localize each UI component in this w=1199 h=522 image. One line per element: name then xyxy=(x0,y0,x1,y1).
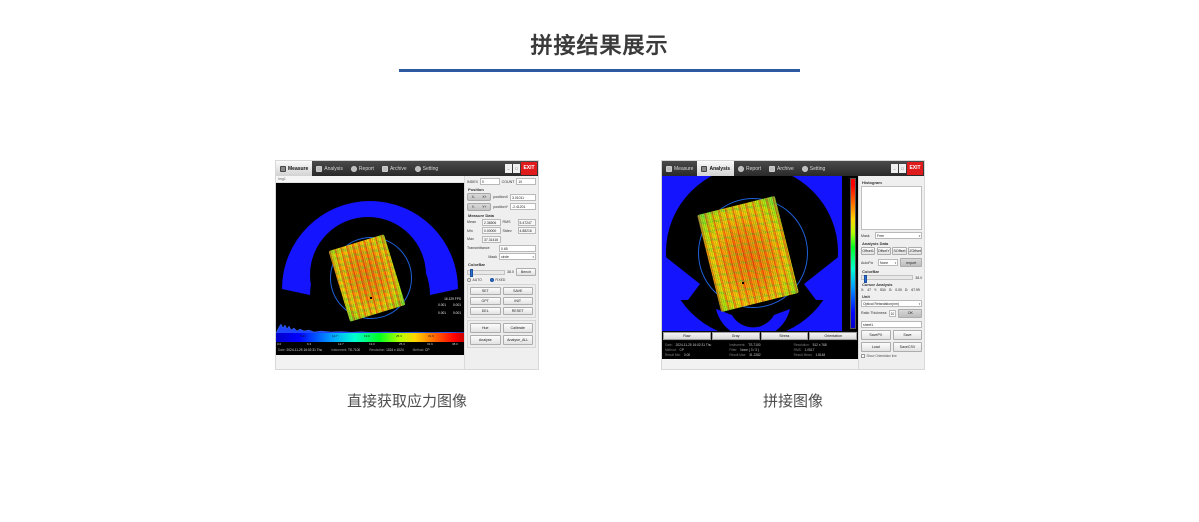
analyse-button[interactable]: Analyse xyxy=(470,335,501,345)
autofix-row: AutoFix None ▾ export xyxy=(861,258,922,267)
archive-icon xyxy=(382,166,388,172)
position-y-value[interactable]: -2.41201 xyxy=(510,203,536,210)
window-buttons: – □ EXIT xyxy=(505,162,538,175)
radio-auto-label: AUTO xyxy=(473,278,482,282)
cursor-d-value: 67.99 xyxy=(911,288,920,292)
colorbar-strip: 6.33 12.7 19.0 25.3 31.6 0.0 6.3 12.7 19… xyxy=(276,323,464,355)
unit-group-title: Unit xyxy=(862,294,922,299)
chevron-down-icon: ▾ xyxy=(919,301,921,307)
action-grid: Hue Calibrate Analyse Analyse_ALL xyxy=(470,323,533,345)
screenshot-left: Measure Analysis Report Archive Setting … xyxy=(276,161,538,369)
savepx-button[interactable]: SavePX xyxy=(861,330,891,340)
stitched-image-canvas[interactable]: 38.0 31.6 25.3 19.0 12.7 6.33 0.0 xyxy=(662,176,858,331)
close-button[interactable]: EXIT xyxy=(907,162,923,175)
load-button[interactable]: Load xyxy=(861,342,891,352)
cbar-tick: 0.0 xyxy=(277,342,281,346)
info-item: Method:CP xyxy=(665,348,726,352)
left-image-column: Img1 16.129 FPS 0.001 0. xyxy=(276,176,464,369)
max-value: 37.31416 xyxy=(482,236,501,243)
calibrate-button[interactable]: Calibrate xyxy=(503,323,534,333)
colorbar-slider-row: 38.0 Bench xyxy=(467,268,536,276)
offsety-button[interactable]: OffsetY xyxy=(877,247,891,255)
menu-label: Analysis xyxy=(324,166,343,172)
camera-icon xyxy=(280,166,286,172)
info-key: Date: xyxy=(665,343,673,347)
soffset-button[interactable]: SOffset xyxy=(892,247,906,255)
menu-label: Measure xyxy=(674,166,693,172)
colorbar-group-title: ColorBar xyxy=(862,269,922,274)
info-item: Result Mean:1.8148 xyxy=(794,353,855,357)
rms-value: 5.47247 xyxy=(518,219,537,226)
count-field[interactable]: 10 xyxy=(516,178,536,185)
cursor-d-label: D: xyxy=(905,288,908,292)
info-val: 2024-11-25 16:02:31 Thu xyxy=(676,343,712,347)
save-button[interactable]: SAVE xyxy=(503,287,534,295)
menu-label: Archive xyxy=(390,166,407,172)
overlay-val: 0.001 xyxy=(453,310,461,316)
save-button[interactable]: Save xyxy=(893,330,923,340)
info-val: TS-7100 xyxy=(748,343,760,347)
unit-select[interactable]: Optical Retardation(nm) ▾ xyxy=(861,300,922,307)
info-item: Resolution:512 x 768 xyxy=(794,343,855,347)
right-menubar: Measure Analysis Report Archive Setting … xyxy=(662,161,924,176)
colorbar-slider[interactable] xyxy=(467,270,505,275)
ok-button[interactable]: OK xyxy=(898,309,922,318)
position-x-value[interactable]: 3.01011 xyxy=(510,194,536,201)
mean-value: 2.36506 xyxy=(482,219,501,226)
stdev-label: Stdev xyxy=(503,229,516,233)
info-val: 1.0517 xyxy=(805,348,815,352)
chevron-down-icon: ▾ xyxy=(919,233,921,239)
ratio-field[interactable]: 10 xyxy=(889,310,897,317)
x-minus-button[interactable]: X- xyxy=(472,195,475,199)
right-control-panel: Histogram Mask Free ▾ Analysis Data Offs… xyxy=(858,176,924,369)
radio-auto[interactable]: AUTO xyxy=(467,278,482,282)
mean-label: Mean xyxy=(467,220,480,224)
close-button[interactable]: EXIT xyxy=(521,162,537,175)
menu-item-report[interactable]: Report xyxy=(347,161,378,176)
set-button[interactable]: SET xyxy=(470,287,501,295)
max-label: Max xyxy=(467,237,480,241)
filename-row: sheet1 xyxy=(861,321,922,328)
tab-orientation[interactable]: Orientation xyxy=(809,332,857,340)
cbar-inner-label: 6.33 xyxy=(300,334,306,338)
position-x-stepper[interactable]: X- X+ xyxy=(467,193,491,201)
mask-label: Mask xyxy=(861,234,873,238)
utility-button-grid: SET SAVE OPT INIT DEL RESET xyxy=(467,284,536,318)
mask-label: Mask xyxy=(467,255,497,259)
info-val: 1.8148 xyxy=(815,353,825,357)
count-label: COUNT xyxy=(502,180,515,184)
radio-fixed[interactable]: FIXED xyxy=(490,278,506,282)
radio-icon xyxy=(490,278,494,282)
status-key: Method: xyxy=(413,348,425,352)
menu-item-archive[interactable]: Archive xyxy=(765,161,798,176)
reset-button[interactable]: RESET xyxy=(503,307,534,315)
maximize-button[interactable]: □ xyxy=(899,164,906,173)
menu-label: Setting xyxy=(810,166,826,172)
y-minus-button[interactable]: Y- xyxy=(472,205,475,209)
page-root: 拼接结果展示 Measure Analysis Report Archive xyxy=(0,0,1199,522)
cbar-inner-label: 31.6 xyxy=(428,334,434,338)
file-button-grid: SavePX Save Load SaveCSV xyxy=(861,330,922,352)
info-key: Result Mean: xyxy=(794,353,813,357)
autofix-select[interactable]: None ▾ xyxy=(878,259,898,266)
overlay-val: 0.001 xyxy=(453,302,461,308)
camera-icon xyxy=(666,166,672,172)
colorbar-slider-knob[interactable] xyxy=(864,275,867,283)
mean-rms-row: Mean 2.36506 RMS 5.47247 xyxy=(467,219,536,226)
info-key: Result Max: xyxy=(729,353,746,357)
status-val: 1024 x 1024 xyxy=(386,348,404,352)
menu-item-archive[interactable]: Archive xyxy=(378,161,411,176)
menu-label: Analysis xyxy=(709,166,730,172)
rms-label: RMS xyxy=(503,220,516,224)
position-y-label: positionY xyxy=(493,205,508,209)
header-underline xyxy=(399,69,800,72)
info-item: Result Max:31.2282 xyxy=(729,353,790,357)
status-bar: Date: 2024-11-25 16:02:31 Thu Instrument… xyxy=(278,348,464,352)
ratio-row: Ratio Thickness 10 OK xyxy=(861,309,922,318)
left-control-panel: INDEX 0 COUNT 10 Position X- X+ position… xyxy=(464,176,538,369)
right-app-body: 38.0 31.6 25.3 19.0 12.7 6.33 0.0 Raw Gr… xyxy=(662,176,924,369)
status-key: Resolution: xyxy=(369,348,385,352)
tab-raw[interactable]: Raw xyxy=(663,332,711,340)
histogram-panel[interactable] xyxy=(861,186,922,230)
status-key: Instrument: xyxy=(331,348,347,352)
button-grid: SET SAVE OPT INIT DEL RESET xyxy=(470,287,533,315)
zoffset-button[interactable]: ZOffset xyxy=(908,247,922,255)
min-value: 0.00000 xyxy=(482,227,501,234)
cursor-x-value: 47 xyxy=(867,288,871,292)
maximize-button[interactable]: □ xyxy=(513,164,520,173)
mask-row: Mask circle ▾ xyxy=(467,253,536,260)
max-row: Max 37.31416 . xyxy=(467,236,536,243)
info-val: 0.00 xyxy=(684,353,690,357)
colorbar-slider[interactable] xyxy=(861,275,913,280)
window-buttons: – □ EXIT xyxy=(891,162,924,175)
overlay-val: 0.001 xyxy=(438,310,446,316)
cursor-g-label: G: xyxy=(889,288,893,292)
info-item: Date:2024-11-25 16:02:31 Thu xyxy=(665,343,726,347)
analysis-icon xyxy=(701,166,707,172)
colorbar-mode-radios: AUTO FIXED xyxy=(467,278,536,282)
menu-item-measure[interactable]: Measure xyxy=(662,161,697,176)
stress-image-canvas[interactable]: 16.129 FPS 0.001 0.001 0.001 0.001 xyxy=(276,183,464,323)
right-image-column: 38.0 31.6 25.3 19.0 12.7 6.33 0.0 Raw Gr… xyxy=(662,176,858,369)
menu-item-report[interactable]: Report xyxy=(734,161,765,176)
analyse-all-button[interactable]: Analyse_ALL xyxy=(503,335,534,345)
min-stdev-row: Min 0.00000 Stdev 4.88216 xyxy=(467,227,536,234)
filename-input[interactable]: sheet1 xyxy=(861,321,922,328)
colorbar-inner-labels: 6.33 12.7 19.0 25.3 31.6 xyxy=(276,334,464,342)
colorbar-group-title: ColorBar xyxy=(468,262,536,267)
cursor-x-label: X: xyxy=(861,288,864,292)
chevron-down-icon: ▾ xyxy=(532,254,534,260)
export-button[interactable]: export xyxy=(900,258,922,267)
menu-label: Report xyxy=(746,166,761,172)
info-val: None ( 3 / 3 ) xyxy=(740,348,759,352)
action-button-grid: Hue Calibrate Analyse Analyse_ALL xyxy=(467,320,536,348)
cursor-marker xyxy=(370,297,372,299)
mask-value: Free xyxy=(877,233,884,239)
unit-value: Optical Retardation(nm) xyxy=(863,301,899,307)
offset-row: Offset1 OffsetY SOffset ZOffset xyxy=(861,247,922,255)
info-val: 512 x 768 xyxy=(813,343,827,347)
menu-item-analysis[interactable]: Analysis xyxy=(312,161,347,176)
autofix-value: None xyxy=(880,260,888,266)
cursor-y-label: Y: xyxy=(874,288,877,292)
info-item: RMS:1.0517 xyxy=(794,348,855,352)
left-menubar: Measure Analysis Report Archive Setting … xyxy=(276,161,538,176)
menu-label: Setting xyxy=(423,166,439,172)
index-field[interactable]: 0 xyxy=(480,178,500,185)
histogram-plot xyxy=(276,323,464,333)
info-key: Result Min: xyxy=(665,353,681,357)
chevron-down-icon: ▾ xyxy=(895,260,897,266)
cursor-marker xyxy=(742,282,744,284)
info-val: CP xyxy=(680,348,684,352)
page-title: 拼接结果展示 xyxy=(0,28,1199,60)
report-icon xyxy=(351,166,357,172)
info-val: 31.2282 xyxy=(749,353,761,357)
minimize-button[interactable]: – xyxy=(891,164,898,173)
offset1-button[interactable]: Offset1 xyxy=(861,247,875,255)
report-icon xyxy=(738,166,744,172)
del-button[interactable]: DEL xyxy=(470,307,501,315)
autofix-label: AutoFix xyxy=(861,261,876,265)
cbar-tick: 25.3 xyxy=(399,342,405,346)
info-key: Resolution: xyxy=(794,343,810,347)
position-x-row: X- X+ positionX 3.01011 xyxy=(467,193,536,201)
vertical-colorbar-ticks: 38.0 31.6 25.3 19.0 12.7 6.33 0.0 xyxy=(849,176,859,327)
left-app-body: Img1 16.129 FPS 0.001 0. xyxy=(276,176,538,369)
image-tab-label: Img1 xyxy=(276,176,464,183)
info-key: Filter: xyxy=(729,348,737,352)
cursor-y-value: 534 xyxy=(880,288,886,292)
colorbar-value: 38.0 xyxy=(915,276,922,280)
cbar-inner-label: 12.7 xyxy=(332,334,338,338)
colorbar-slider-row: 38.0 xyxy=(861,275,922,280)
index-label: INDEX xyxy=(467,180,478,184)
min-label: Min xyxy=(467,229,480,233)
stdev-value: 4.88216 xyxy=(518,227,537,234)
cbar-tick: 12.7 xyxy=(338,342,344,346)
page-header: 拼接结果展示 xyxy=(0,0,1199,100)
transmittance-row: Transmittance 0.65 xyxy=(467,245,536,252)
info-item: Filter:None ( 3 / 3 ) xyxy=(729,348,790,352)
info-item: Instrument:TS-7100 xyxy=(729,343,790,347)
index-count-row: INDEX 0 COUNT 10 xyxy=(467,178,536,185)
caption-right: 拼接图像 xyxy=(593,390,993,411)
gear-icon xyxy=(415,166,421,172)
opt-button[interactable]: OPT xyxy=(470,297,501,305)
view-tab-row: Raw Gray Stress Orientation xyxy=(662,331,858,341)
colorbar-value: 38.0 xyxy=(507,270,514,274)
checkbox-label: Show Orientation line xyxy=(867,354,897,358)
mask-value: circle xyxy=(501,254,509,260)
menu-item-setting[interactable]: Setting xyxy=(798,161,830,176)
caption-left: 直接获取应力图像 xyxy=(207,390,607,411)
tab-stress[interactable]: Stress xyxy=(761,332,809,340)
cbar-tick: 6.3 xyxy=(307,342,311,346)
info-key: Instrument: xyxy=(729,343,745,347)
menu-item-analysis[interactable]: Analysis xyxy=(697,161,734,176)
cbar-inner-label: 25.3 xyxy=(396,334,402,338)
cbar-tick: 31.6 xyxy=(427,342,433,346)
menu-label: Report xyxy=(359,166,374,172)
menu-label: Archive xyxy=(777,166,794,172)
position-y-stepper[interactable]: Y- Y+ xyxy=(467,203,491,211)
bench-button[interactable]: Bench xyxy=(516,268,536,276)
y-plus-button[interactable]: Y+ xyxy=(482,205,486,209)
radio-icon xyxy=(467,278,471,282)
menu-label: Measure xyxy=(288,166,308,172)
menu-item-setting[interactable]: Setting xyxy=(411,161,443,176)
info-item: Result Min:0.00 xyxy=(665,353,726,357)
menu-item-measure[interactable]: Measure xyxy=(276,161,312,176)
ratio-label: Ratio Thickness xyxy=(861,311,887,315)
position-x-label: positionX xyxy=(493,195,508,199)
cursor-g-value: 0.00 xyxy=(895,288,902,292)
status-val: TS-7100 xyxy=(348,348,360,352)
position-y-row: Y- Y+ positionY -2.41201 xyxy=(467,203,536,211)
minimize-button[interactable]: – xyxy=(505,164,512,173)
info-key: Method: xyxy=(665,348,677,352)
transmittance-label: Transmittance xyxy=(467,246,497,250)
analysis-data-group-title: Analysis Data xyxy=(862,241,922,246)
overlay-val: 0.001 xyxy=(438,302,446,308)
mask-select[interactable]: Free ▾ xyxy=(875,232,922,239)
x-plus-button[interactable]: X+ xyxy=(482,195,486,199)
status-key: Date: xyxy=(278,348,286,352)
archive-icon xyxy=(769,166,775,172)
cbar-tick: 19.0 xyxy=(369,342,375,346)
hue-button[interactable]: Hue xyxy=(470,323,501,333)
analysis-icon xyxy=(316,166,322,172)
colorbar-slider-knob[interactable] xyxy=(470,269,473,277)
transmittance-field[interactable]: 0.65 xyxy=(499,245,536,252)
status-val: 2024-11-25 16:02:31 Thu xyxy=(287,348,323,352)
tab-gray[interactable]: Gray xyxy=(712,332,760,340)
mask-select[interactable]: circle ▾ xyxy=(499,253,536,260)
info-panel: Date:2024-11-25 16:02:31 Thu Instrument:… xyxy=(662,341,858,359)
cbar-inner-label: 19.0 xyxy=(364,334,370,338)
cursor-analysis-values: X: 47 Y: 534 G: 0.00 D: 67.99 xyxy=(861,288,922,292)
histogram-group-title: Histogram xyxy=(862,180,922,185)
show-orientation-checkbox[interactable]: Show Orientation line xyxy=(861,354,922,358)
init-button[interactable]: INIT xyxy=(503,297,534,305)
unit-row: Optical Retardation(nm) ▾ xyxy=(861,300,922,307)
position-group-title: Position xyxy=(468,187,536,192)
measure-data-group-title: Measure Data xyxy=(468,213,536,218)
overlay-stats: 16.129 FPS 0.001 0.001 0.001 0.001 xyxy=(438,296,461,317)
checkbox-icon xyxy=(861,354,865,358)
screenshot-right: Measure Analysis Report Archive Setting … xyxy=(662,161,924,369)
status-val: CP xyxy=(425,348,429,352)
radio-fixed-label: FIXED xyxy=(495,278,505,282)
cbar-tick: 38.0 xyxy=(452,342,458,346)
cursor-analysis-group-title: Cursor Analysis xyxy=(862,282,922,287)
histogram-mask-row: Mask Free ▾ xyxy=(861,232,922,239)
savecsv-button[interactable]: SaveCSV xyxy=(893,342,923,352)
gear-icon xyxy=(802,166,808,172)
info-key: RMS: xyxy=(794,348,802,352)
